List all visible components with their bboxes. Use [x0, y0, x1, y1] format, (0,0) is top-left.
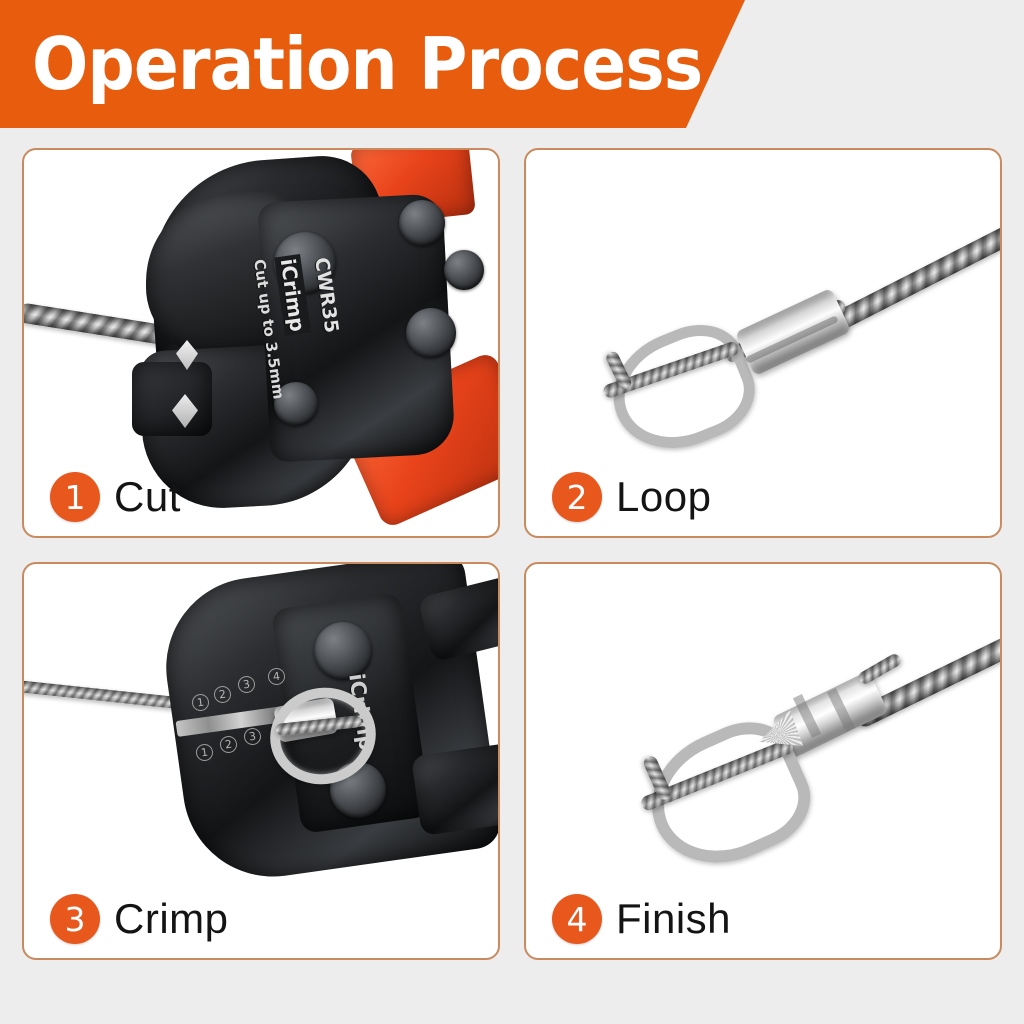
step-card-crimp[interactable]: iCrimp 1 2 3 4 1 2 3 3 Crimp — [22, 562, 500, 960]
step-4-label-row: 4 Finish — [552, 894, 731, 944]
cutter-bolt-upper-right — [399, 200, 445, 246]
step-1-badge: 1 — [50, 472, 100, 522]
step-card-cut[interactable]: Cut up to 3.5mm iCrimp CWR35 1 Cut — [22, 148, 500, 538]
step-card-loop[interactable]: 2 Loop — [524, 148, 1002, 538]
step-2-label-row: 2 Loop — [552, 472, 711, 522]
cutter-bolt-far-right — [444, 250, 484, 290]
step-3-label: Crimp — [114, 898, 229, 940]
crimper-bolt-top — [314, 622, 372, 680]
steps-grid: Cut up to 3.5mm iCrimp CWR35 1 Cut — [22, 148, 1002, 1000]
crimper-handle-lower — [411, 740, 498, 836]
page-title: Operation Process — [32, 22, 702, 106]
step-3-badge: 3 — [50, 894, 100, 944]
step-2-badge: 2 — [552, 472, 602, 522]
step-4-label: Finish — [616, 898, 731, 940]
cutter-blade-left — [132, 362, 212, 436]
cutter-bolt-lower-right — [406, 308, 456, 358]
ferrule-sleeve — [735, 288, 851, 376]
step-1-label-row: 1 Cut — [50, 472, 181, 522]
wire-rope-tail-end — [857, 652, 903, 686]
step-4-badge: 4 — [552, 894, 602, 944]
step-3-label-row: 3 Crimp — [50, 894, 229, 944]
step-2-label: Loop — [616, 476, 711, 518]
step-1-label: Cut — [114, 476, 181, 518]
step-card-finish[interactable]: 4 Finish — [524, 562, 1002, 960]
